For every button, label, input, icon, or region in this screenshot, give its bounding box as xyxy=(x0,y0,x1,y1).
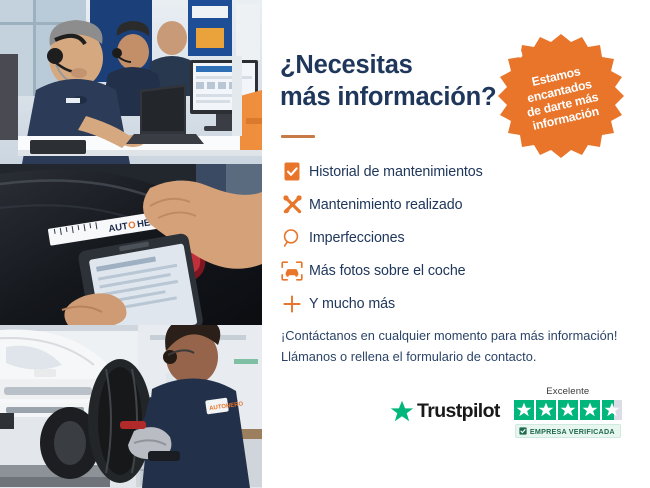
star-1 xyxy=(514,400,534,420)
star-3 xyxy=(558,400,578,420)
photo-mechanic: AUTOHERO xyxy=(0,325,262,488)
photo-inspection: AUT O HERO xyxy=(0,164,262,325)
info-banner: AUT O HERO xyxy=(0,0,650,488)
feature-item-mantenimiento: Mantenimiento realizado xyxy=(275,188,605,221)
feature-item-historial: Historial de mantenimientos xyxy=(275,155,605,188)
feature-label: Imperfecciones xyxy=(309,230,405,246)
feature-label: Historial de mantenimientos xyxy=(309,164,483,180)
star-4 xyxy=(580,400,600,420)
contact-paragraph: ¡Contáctanos en cualquier momento para m… xyxy=(281,325,641,367)
feature-item-imperfecciones: Imperfecciones xyxy=(275,221,605,254)
feature-item-fotos: Más fotos sobre el coche xyxy=(275,254,605,287)
tools-cross-icon xyxy=(275,191,309,219)
verified-badge: EMPRESA VERIFICADA xyxy=(515,424,621,438)
trustpilot-rating: Excelente xyxy=(514,386,622,438)
title-divider xyxy=(281,135,315,138)
badge-text: Estamos encantados de darte más informac… xyxy=(500,58,622,139)
verified-check-icon xyxy=(519,427,527,435)
star-5-partial xyxy=(602,400,622,420)
paragraph-line-2: Llámanos o rellena el formulario de cont… xyxy=(281,346,641,367)
trustpilot-widget[interactable]: Trustpilot Excelente xyxy=(390,386,630,438)
heading-line-1: ¿Necesitas xyxy=(280,51,413,79)
content-column: ¿Necesitas más información? Estamos enca… xyxy=(262,0,650,488)
promo-badge: Estamos encantados de darte más informac… xyxy=(496,32,626,164)
plus-icon xyxy=(275,290,309,318)
feature-item-mas: Y mucho más xyxy=(275,287,605,320)
headset-icon xyxy=(498,40,523,62)
feature-label: Mantenimiento realizado xyxy=(309,197,462,213)
trustpilot-star-icon xyxy=(390,400,414,423)
rating-label: Excelente xyxy=(546,386,589,397)
paragraph-line-1: ¡Contáctanos en cualquier momento para m… xyxy=(281,325,641,346)
mechanic-image: AUTOHERO xyxy=(0,325,262,488)
clipboard-check-icon xyxy=(275,158,309,186)
car-focus-frame-icon xyxy=(275,257,309,285)
magnifier-icon xyxy=(275,224,309,252)
feature-label: Más fotos sobre el coche xyxy=(309,263,466,279)
feature-label: Y mucho más xyxy=(309,296,395,312)
trustpilot-wordmark: Trustpilot xyxy=(417,400,500,423)
photo-call-center xyxy=(0,0,262,164)
inspection-image: AUT O HERO xyxy=(0,164,262,325)
star-2 xyxy=(536,400,556,420)
call-center-image xyxy=(0,0,262,164)
feature-list: Historial de mantenimientos Mantenimient… xyxy=(275,155,605,320)
trustpilot-logo: Trustpilot xyxy=(390,400,500,423)
verified-label: EMPRESA VERIFICADA xyxy=(530,427,615,436)
star-rating xyxy=(514,400,622,420)
photo-column: AUT O HERO xyxy=(0,0,262,488)
